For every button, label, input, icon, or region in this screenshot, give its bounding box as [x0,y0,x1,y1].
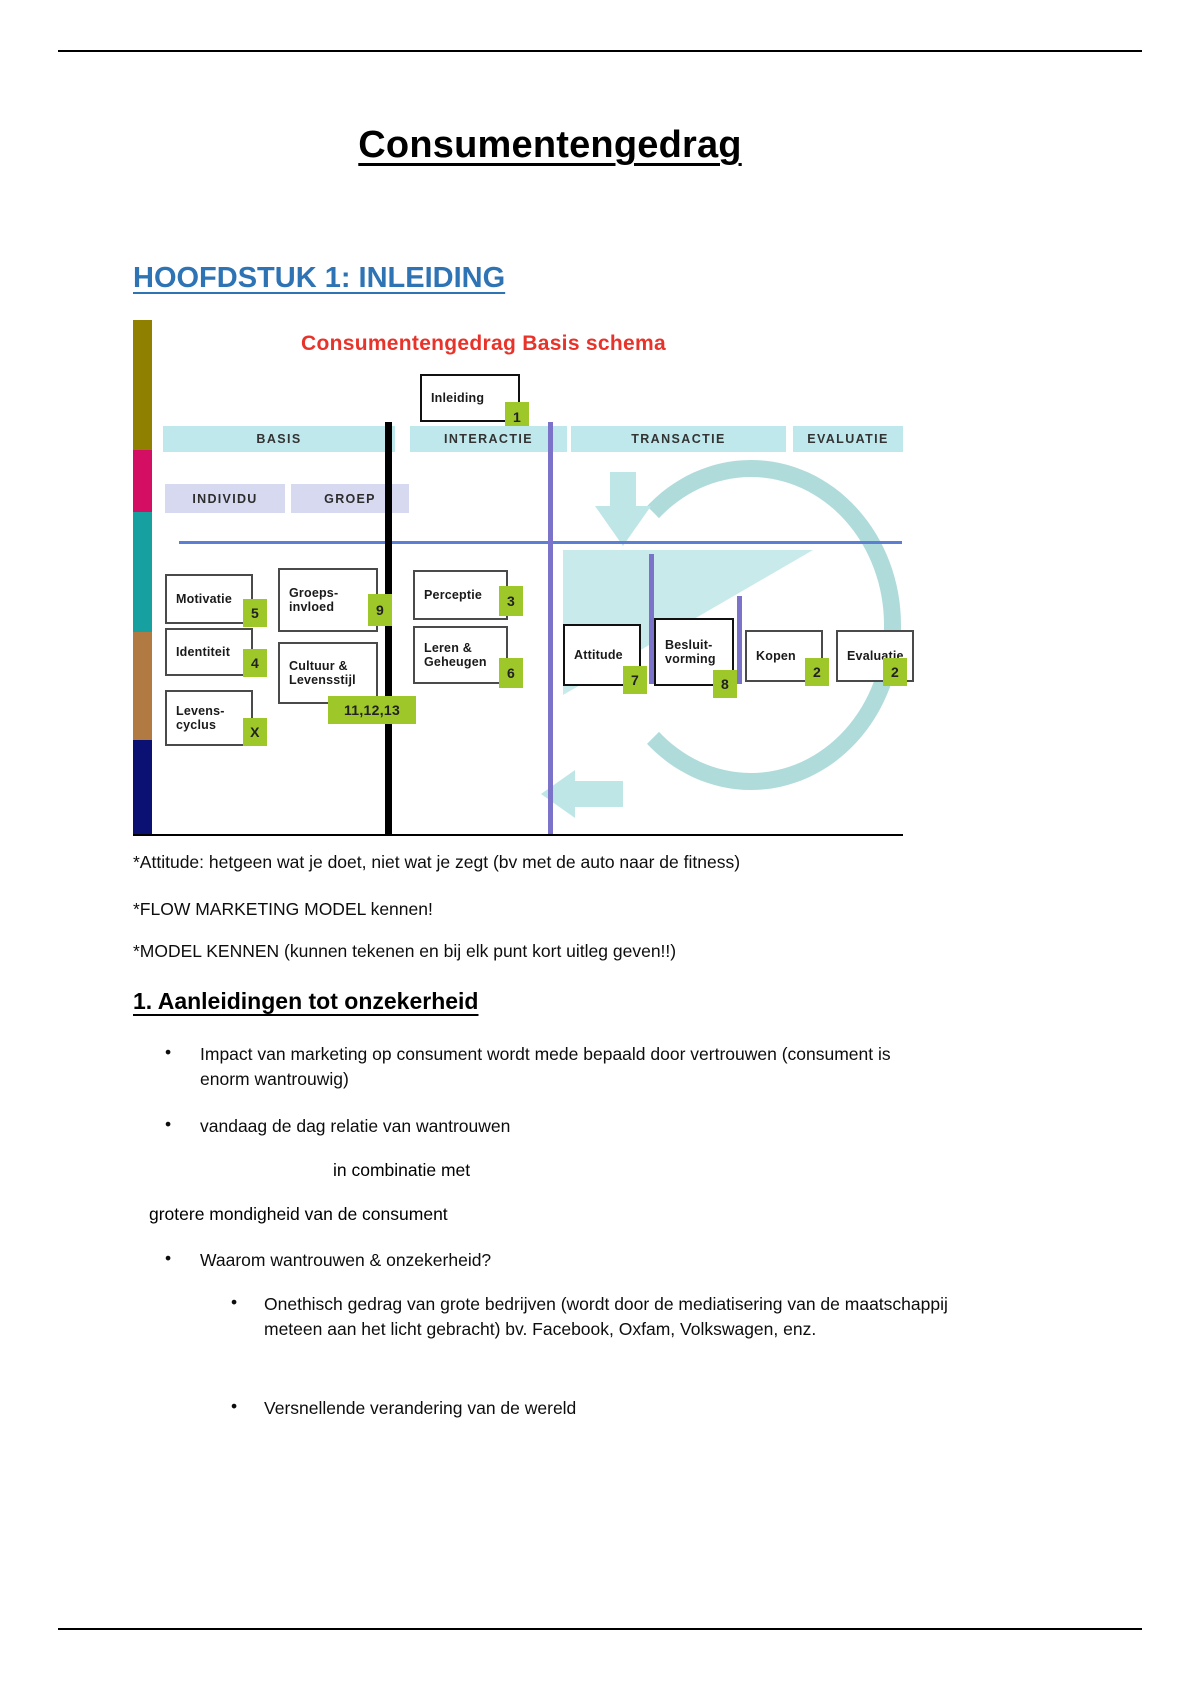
bullet-item-relatie-wantrouwen: vandaag de dag relatie van wantrouwen [200,1114,900,1139]
color-strip-navy [133,740,152,836]
phase-bar-interactie: INTERACTIE [410,426,567,452]
diagram-box-label: Leren & Geheugen [424,641,487,669]
diagram-baseline [133,834,903,836]
diagram-box-label: Attitude [574,648,623,662]
badge-cultuur-levensstijl: 11,12,13 [328,696,416,724]
badge-identiteit: 4 [243,649,267,677]
note-attitude: *Attitude: hetgeen wat je doet, niet wat… [133,852,740,873]
free-line-mondigheid: grotere mondigheid van de consument [149,1204,448,1225]
arrow-left-stem-graphic [573,781,623,807]
phase-label: TRANSACTIE [631,432,726,446]
section-heading: 1. Aanleidingen tot onzekerheid [133,988,478,1015]
diagram-box-cultuur-levensstijl: Cultuur & Levensstijl [278,642,378,704]
badge-evaluatie: 2 [883,658,907,686]
diagram-box-label: Kopen [756,649,796,663]
diagram-box-label: Groeps- invloed [289,586,338,614]
badge-perceptie: 3 [499,586,523,616]
badge-levenscyclus: X [243,718,267,746]
color-strip-teal [133,512,152,632]
diagram-box-label: Besluit- vorming [665,638,716,666]
badge-besluitvorming: 8 [713,670,737,698]
badge-groepsinvloed: 9 [368,594,392,626]
diagram-box-motivatie: Motivatie [165,574,253,624]
divider-besluitvorming-kopen [737,596,742,684]
phase-label: BASIS [256,432,301,446]
page-title: Consumentengedrag [0,124,1100,167]
note-flow-marketing: *FLOW MARKETING MODEL kennen! [133,899,433,920]
diagram-box-perceptie: Perceptie [413,570,508,620]
sub-bullet-marker: • [231,1292,237,1313]
note-model-kennen: *MODEL KENNEN (kunnen tekenen en bij elk… [133,941,676,962]
color-strip-olive [133,320,152,450]
flow-line [179,541,902,544]
badge-attitude: 7 [623,666,647,694]
color-strip-brown [133,632,152,740]
bullet-marker: • [165,1042,171,1063]
diagram-box-label: Levens- cyclus [176,704,225,732]
badge-leren-geheugen: 6 [499,658,523,688]
badge-motivatie: 5 [243,599,267,627]
phase-label: EVALUATIE [807,432,889,446]
phase-bar-evaluatie: EVALUATIE [793,426,903,452]
bullet-marker: • [165,1114,171,1135]
page-bottom-rule [58,1628,1142,1630]
phase-bar-basis: BASIS [163,426,395,452]
consumer-behaviour-schema-diagram: Consumentengedrag Basis schema Inleiding… [133,318,903,836]
diagram-box-label: Identiteit [176,645,230,659]
phase-bar-transactie: TRANSACTIE [571,426,786,452]
bullet-item-waarom-wantrouwen: Waarom wantrouwen & onzekerheid? [200,1248,491,1273]
diagram-box-leren-geheugen: Leren & Geheugen [413,626,508,684]
diagram-box-identiteit: Identiteit [165,628,253,676]
sub-bullet-item-versnellende-verandering: Versnellende verandering van de wereld [264,1396,576,1421]
diagram-title: Consumentengedrag Basis schema [301,332,666,356]
arrow-left-icon [541,770,575,818]
sub-bullet-item-onethisch-gedrag: Onethisch gedrag van grote bedrijven (wo… [264,1292,952,1343]
sub-bullet-marker: • [231,1396,237,1417]
sub-line-in-combinatie-met: in combinatie met [333,1160,470,1181]
bullet-item-impact: Impact van marketing op consument wordt … [200,1042,900,1093]
diagram-box-levenscyclus: Levens- cyclus [165,690,253,746]
bullet-marker: • [165,1248,171,1269]
diagram-box-label: Motivatie [176,592,232,606]
color-strip-pink [133,450,152,512]
diagram-box-label: Inleiding [431,391,484,405]
diagram-box-label: Perceptie [424,588,482,602]
chapter-heading: HOOFDSTUK 1: INLEIDING [133,262,505,295]
sub-bar-individu: INDIVIDU [165,484,285,513]
diagram-box-label: Cultuur & Levensstijl [289,659,356,687]
divider-interactie-transactie [548,422,553,836]
divider-basis-interactie [385,422,392,836]
diagram-box-groepsinvloed: Groeps- invloed [278,568,378,632]
phase-label: INTERACTIE [444,432,533,446]
sub-bar-label: INDIVIDU [192,492,257,506]
badge-kopen: 2 [805,658,829,686]
sub-bar-label: GROEP [324,492,376,506]
arrow-down-icon [595,506,651,546]
page-top-rule [58,50,1142,52]
